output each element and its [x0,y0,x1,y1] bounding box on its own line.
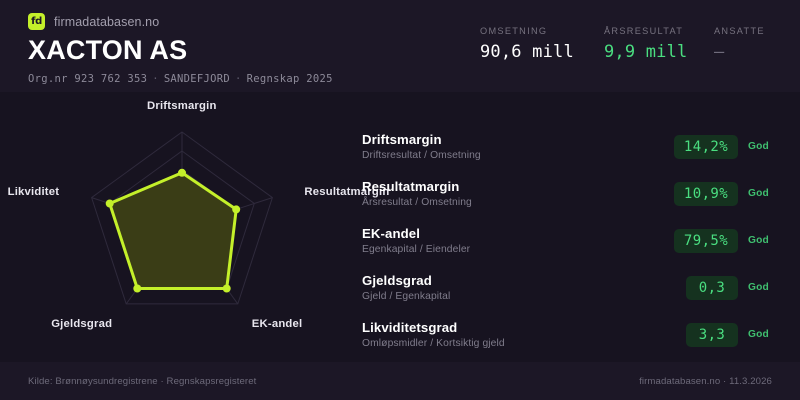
metric-right: 79,5% God [674,229,782,253]
radar-data-point [178,169,186,177]
metric-value-badge: 10,9% [674,182,738,206]
body: DriftsmarginResultatmarginEK-andelGjelds… [0,92,800,362]
radar-data-point [232,205,240,213]
company-orgnr: Org.nr 923 762 353 [28,73,147,85]
metric-formula: Omløpsmidler / Kortsiktig gjeld [362,338,686,349]
metric-texts: Likviditetsgrad Omløpsmidler / Kortsikti… [362,320,686,349]
metric-texts: EK-andel Egenkapital / Eiendeler [362,226,674,255]
metric-row-likviditetsgrad[interactable]: Likviditetsgrad Omløpsmidler / Kortsikti… [362,315,782,354]
metric-status-badge: God [748,282,782,293]
radar-data-point [133,285,141,293]
metric-formula: Årsresultat / Omsetning [362,197,674,208]
brand[interactable]: fd firmadatabasen.no [28,13,333,30]
company-meta: Org.nr 923 762 353·SANDEFJORD·Regnskap 2… [28,73,333,85]
radar-axis-label-gjeldsgrad: Gjeldsgrad [51,318,112,330]
radar-data-point [223,285,231,293]
metric-right: 0,3 God [686,276,782,300]
metric-formula: Egenkapital / Eiendeler [362,244,674,255]
kpi-omsetning-value: 90,6 mill [480,42,604,62]
metric-right: 10,9% God [674,182,782,206]
metric-name: EK-andel [362,226,674,241]
kpi-omsetning-label: OMSETNING [480,26,604,36]
page-title: XACTON AS [28,35,333,66]
metric-right: 3,3 God [686,323,782,347]
kpi-arsresultat: ÅRSRESULTAT 9,9 mill [604,26,714,62]
infographic-card: fd firmadatabasen.no XACTON AS Org.nr 92… [0,0,800,400]
metrics-list: Driftsmargin Driftsresultat / Omsetning … [362,127,782,362]
metric-status-badge: God [748,188,782,199]
kpi-ansatte-label: ANSATTE [714,26,774,36]
kpi-omsetning: OMSETNING 90,6 mill [480,26,604,62]
metric-value-badge: 79,5% [674,229,738,253]
metric-texts: Driftsmargin Driftsresultat / Omsetning [362,132,674,161]
radar-data-point [106,200,114,208]
metric-value-badge: 0,3 [686,276,738,300]
metric-texts: Gjeldsgrad Gjeld / Egenkapital [362,273,686,302]
radar-axis-label-driftsmargin: Driftsmargin [147,100,217,112]
company-city: SANDEFJORD [164,73,230,85]
footer-source: Kilde: Brønnøysundregistrene · Regnskaps… [28,376,256,387]
footer-attribution: firmadatabasen.no · 11.3.2026 [639,376,772,387]
kpi-arsresultat-label: ÅRSRESULTAT [604,26,714,36]
meta-separator-1: · [147,73,164,85]
metric-formula: Driftsresultat / Omsetning [362,150,674,161]
footer: Kilde: Brønnøysundregistrene · Regnskaps… [0,362,800,400]
metric-row-gjeldsgrad[interactable]: Gjeldsgrad Gjeld / Egenkapital 0,3 God [362,268,782,307]
metric-value-badge: 14,2% [674,135,738,159]
metric-name: Resultatmargin [362,179,674,194]
metric-name: Gjeldsgrad [362,273,686,288]
metric-status-badge: God [748,141,782,152]
header: fd firmadatabasen.no XACTON AS Org.nr 92… [0,0,800,92]
metric-row-driftsmargin[interactable]: Driftsmargin Driftsresultat / Omsetning … [362,127,782,166]
metric-status-badge: God [748,329,782,340]
metric-row-ek-andel[interactable]: EK-andel Egenkapital / Eiendeler 79,5% G… [362,221,782,260]
brand-name: firmadatabasen.no [54,15,159,29]
header-left: fd firmadatabasen.no XACTON AS Org.nr 92… [28,13,333,85]
firmadatabasen-logo-icon: fd [28,13,45,30]
metric-status-badge: God [748,235,782,246]
metric-name: Driftsmargin [362,132,674,147]
kpi-strip: OMSETNING 90,6 mill ÅRSRESULTAT 9,9 mill… [480,26,774,62]
metric-formula: Gjeld / Egenkapital [362,291,686,302]
metric-row-resultatmargin[interactable]: Resultatmargin Årsresultat / Omsetning 1… [362,174,782,213]
kpi-ansatte-value: – [714,42,774,62]
kpi-ansatte: ANSATTE – [714,26,774,62]
metric-value-badge: 3,3 [686,323,738,347]
metric-name: Likviditetsgrad [362,320,686,335]
radar-axis-label-likviditet: Likviditet [8,186,60,198]
meta-separator-2: · [230,73,247,85]
metric-texts: Resultatmargin Årsresultat / Omsetning [362,179,674,208]
company-accounting-year: Regnskap 2025 [247,73,333,85]
kpi-arsresultat-value: 9,9 mill [604,42,714,62]
radar-chart: DriftsmarginResultatmarginEK-andelGjelds… [0,92,360,362]
metric-right: 14,2% God [674,135,782,159]
radar-axis-label-ek-andel: EK-andel [252,318,303,330]
